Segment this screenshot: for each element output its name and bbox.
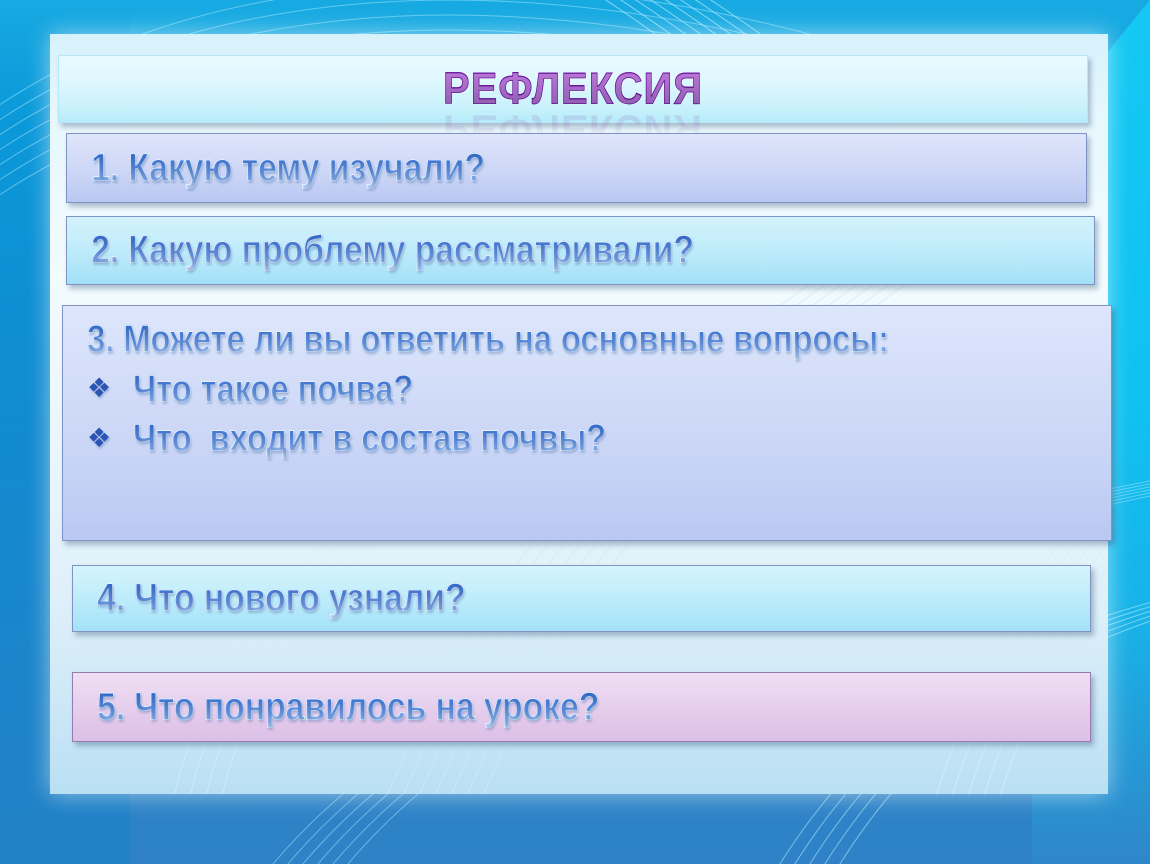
title-wrap: РЕФЛЕКСИЯ РЕФЛЕКСИЯ [443,69,703,109]
diamond-bullet-icon: ❖ [87,375,133,402]
question-1-text: 1. Какую тему изучали? [91,148,485,188]
slide: РЕФЛЕКСИЯ РЕФЛЕКСИЯ 1. Какую тему изучал… [0,0,1150,864]
question-box-3[interactable]: 3. Можете ли вы ответить на основные воп… [62,305,1112,541]
title-box: РЕФЛЕКСИЯ РЕФЛЕКСИЯ [58,55,1088,123]
question-2-text: 2. Какую проблему рассматривали? [91,231,694,271]
question-3-bullet-2-text: Что входит в состав почвы? [133,419,606,457]
diamond-bullet-icon: ❖ [87,425,133,452]
list-item: ❖ Что входит в состав почвы? [87,421,1111,455]
question-box-4[interactable]: 4. Что нового узнали? [72,565,1091,632]
question-4-text: 4. Что нового узнали? [97,579,465,619]
question-3-text: 3. Можете ли вы ответить на основные воп… [87,320,889,358]
question-3-heading-row: 3. Можете ли вы ответить на основные воп… [87,322,1111,356]
page-title: РЕФЛЕКСИЯ [443,67,703,112]
question-3-bullet-1-text: Что такое почва? [133,369,413,407]
list-item: ❖ Что такое почва? [87,372,1111,406]
question-5-text: 5. Что понравилось на уроке? [97,687,599,727]
question-box-1[interactable]: 1. Какую тему изучали? [66,133,1087,203]
question-box-2[interactable]: 2. Какую проблему рассматривали? [66,216,1095,285]
question-box-5[interactable]: 5. Что понравилось на уроке? [72,672,1091,742]
